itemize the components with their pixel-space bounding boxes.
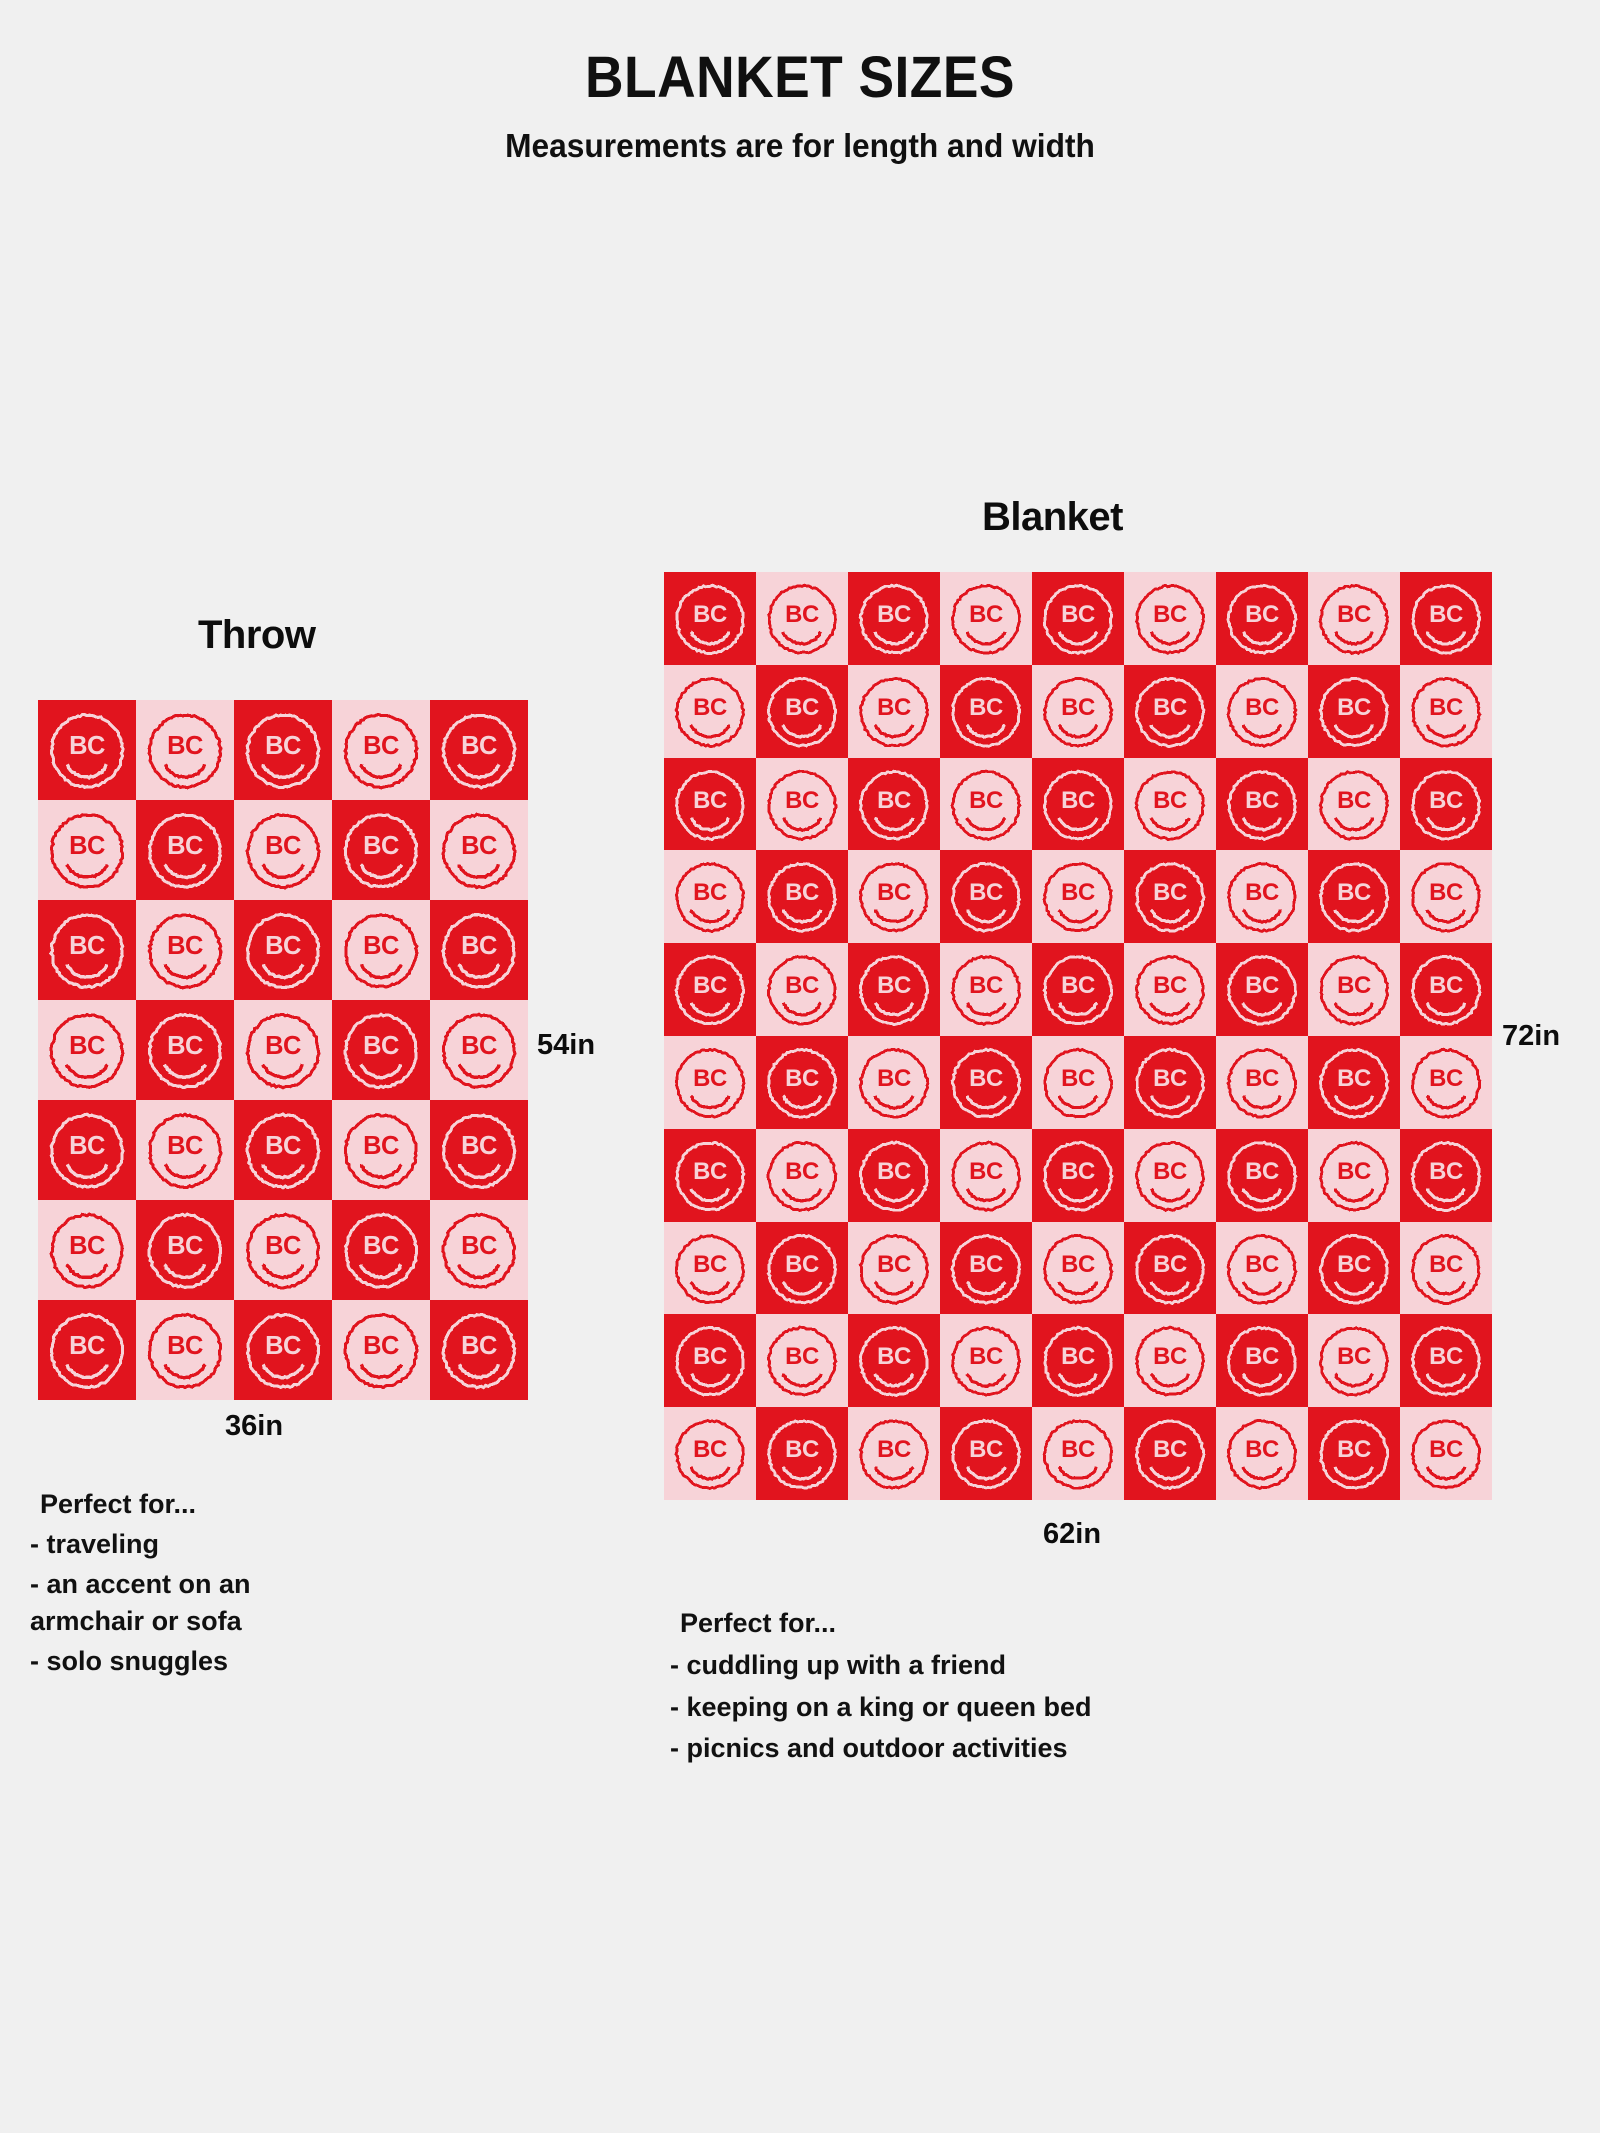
blanket-size-chart: BLANKET SIZES Measurements are for lengt…: [0, 0, 1600, 2133]
blanket-perfect-heading: Perfect for...: [680, 1605, 1310, 1643]
svg-text:BC: BC: [785, 1250, 819, 1277]
blanket-tile: BC: [1308, 1222, 1400, 1315]
blanket-tile: BC: [664, 665, 756, 758]
svg-text:BC: BC: [969, 601, 1003, 628]
svg-text:BC: BC: [461, 1232, 497, 1260]
svg-text:BC: BC: [1061, 972, 1095, 999]
svg-text:BC: BC: [693, 1250, 727, 1277]
blanket-tile: BC: [234, 1000, 332, 1100]
svg-text:BC: BC: [1061, 1250, 1095, 1277]
blanket-tile: BC: [38, 1300, 136, 1400]
svg-text:BC: BC: [1429, 694, 1463, 721]
blanket-tile: BC: [1216, 572, 1308, 665]
svg-text:BC: BC: [265, 1332, 301, 1360]
svg-text:BC: BC: [1429, 1065, 1463, 1092]
svg-text:BC: BC: [363, 1232, 399, 1260]
blanket-tile: BC: [332, 1200, 430, 1300]
svg-text:BC: BC: [1061, 601, 1095, 628]
blanket-tile: BC: [1032, 1314, 1124, 1407]
blanket-tile: BC: [1216, 1314, 1308, 1407]
blanket-tile: BC: [756, 943, 848, 1036]
blanket-tile: BC: [756, 1314, 848, 1407]
svg-text:BC: BC: [877, 1250, 911, 1277]
blanket-tile: BC: [756, 758, 848, 851]
svg-text:BC: BC: [363, 932, 399, 960]
blanket-tile: BC: [664, 572, 756, 665]
blanket-perfect-item: - keeping on a king or queen bed: [670, 1689, 1310, 1727]
svg-text:BC: BC: [693, 1065, 727, 1092]
blanket-tile: BC: [940, 1222, 1032, 1315]
svg-text:BC: BC: [69, 732, 105, 760]
throw-perfect-item: - traveling: [30, 1526, 360, 1564]
svg-text:BC: BC: [265, 832, 301, 860]
throw-heading: Throw: [198, 613, 315, 658]
throw-perfect-item: - solo snuggles: [30, 1643, 360, 1681]
blanket-tile: BC: [1032, 572, 1124, 665]
throw-width-label: 36in: [225, 1410, 283, 1443]
svg-text:BC: BC: [1153, 1065, 1187, 1092]
blanket-tile: BC: [136, 1200, 234, 1300]
svg-text:BC: BC: [693, 1436, 727, 1463]
svg-text:BC: BC: [1245, 972, 1279, 999]
svg-text:BC: BC: [693, 1343, 727, 1370]
svg-text:BC: BC: [693, 972, 727, 999]
svg-text:BC: BC: [1245, 786, 1279, 813]
blanket-tile: BC: [234, 800, 332, 900]
blanket-tile: BC: [1216, 1222, 1308, 1315]
svg-text:BC: BC: [1337, 972, 1371, 999]
svg-text:BC: BC: [1245, 879, 1279, 906]
svg-text:BC: BC: [1153, 972, 1187, 999]
blanket-tile: BC: [848, 943, 940, 1036]
blanket-tile: BC: [848, 1407, 940, 1500]
blanket-tile: BC: [430, 900, 528, 1000]
svg-text:BC: BC: [167, 932, 203, 960]
svg-text:BC: BC: [785, 786, 819, 813]
svg-text:BC: BC: [167, 1132, 203, 1160]
blanket-tile: BC: [1400, 758, 1492, 851]
svg-text:BC: BC: [1429, 1343, 1463, 1370]
blanket-tile: BC: [1124, 665, 1216, 758]
blanket-tile: BC: [664, 1314, 756, 1407]
blanket-tile: BC: [848, 1314, 940, 1407]
blanket-tile: BC: [1032, 943, 1124, 1036]
svg-text:BC: BC: [693, 879, 727, 906]
blanket-tile: BC: [332, 800, 430, 900]
svg-text:BC: BC: [785, 1158, 819, 1185]
blanket-tile: BC: [1308, 1407, 1400, 1500]
blanket-tile: BC: [332, 1100, 430, 1200]
svg-text:BC: BC: [1337, 1065, 1371, 1092]
blanket-tile: BC: [848, 1129, 940, 1222]
svg-text:BC: BC: [363, 1132, 399, 1160]
svg-text:BC: BC: [69, 932, 105, 960]
svg-text:BC: BC: [363, 832, 399, 860]
svg-text:BC: BC: [1153, 879, 1187, 906]
blanket-tile: BC: [38, 1000, 136, 1100]
svg-text:BC: BC: [969, 1158, 1003, 1185]
svg-text:BC: BC: [167, 1332, 203, 1360]
blanket-tile: BC: [848, 572, 940, 665]
svg-text:BC: BC: [265, 932, 301, 960]
svg-text:BC: BC: [1153, 1343, 1187, 1370]
blanket-tile: BC: [1124, 850, 1216, 943]
svg-text:BC: BC: [969, 786, 1003, 813]
blanket-tile: BC: [38, 900, 136, 1000]
blanket-tile: BC: [136, 900, 234, 1000]
svg-text:BC: BC: [461, 1332, 497, 1360]
svg-text:BC: BC: [1153, 1436, 1187, 1463]
svg-text:BC: BC: [69, 1032, 105, 1060]
blanket-tile: BC: [664, 1222, 756, 1315]
svg-text:BC: BC: [167, 1232, 203, 1260]
svg-text:BC: BC: [877, 972, 911, 999]
blanket-tile: BC: [234, 1200, 332, 1300]
svg-text:BC: BC: [69, 1232, 105, 1260]
svg-text:BC: BC: [167, 1032, 203, 1060]
svg-text:BC: BC: [1153, 694, 1187, 721]
blanket-tile: BC: [756, 850, 848, 943]
blanket-tile: BC: [1400, 572, 1492, 665]
svg-text:BC: BC: [693, 601, 727, 628]
svg-text:BC: BC: [1061, 879, 1095, 906]
svg-text:BC: BC: [1245, 694, 1279, 721]
svg-text:BC: BC: [1337, 879, 1371, 906]
svg-text:BC: BC: [877, 786, 911, 813]
svg-text:BC: BC: [969, 972, 1003, 999]
blanket-tile: BC: [1400, 943, 1492, 1036]
svg-text:BC: BC: [785, 601, 819, 628]
blanket-tile: BC: [1032, 665, 1124, 758]
svg-text:BC: BC: [1337, 601, 1371, 628]
blanket-tile: BC: [940, 758, 1032, 851]
blanket-perfect-item: - cuddling up with a friend: [670, 1647, 1310, 1685]
svg-text:BC: BC: [363, 1032, 399, 1060]
svg-text:BC: BC: [265, 1232, 301, 1260]
svg-text:BC: BC: [1153, 601, 1187, 628]
throw-perfect-for: Perfect for... - traveling - an accent o…: [30, 1486, 360, 1681]
blanket-tile: BC: [940, 572, 1032, 665]
page-subtitle: Measurements are for length and width: [32, 127, 1568, 165]
blanket-tile: BC: [1400, 1407, 1492, 1500]
blanket-tile: BC: [1400, 1314, 1492, 1407]
svg-text:BC: BC: [69, 832, 105, 860]
svg-text:BC: BC: [1429, 601, 1463, 628]
blanket-tile: BC: [1400, 1129, 1492, 1222]
blanket-tile: BC: [1308, 572, 1400, 665]
svg-text:BC: BC: [1245, 601, 1279, 628]
blanket-tile: BC: [848, 850, 940, 943]
svg-text:BC: BC: [877, 1065, 911, 1092]
blanket-tile: BC: [664, 850, 756, 943]
blanket-tile: BC: [234, 1300, 332, 1400]
blanket-tile: BC: [136, 1100, 234, 1200]
svg-text:BC: BC: [969, 1065, 1003, 1092]
svg-text:BC: BC: [1061, 694, 1095, 721]
svg-text:BC: BC: [1429, 1250, 1463, 1277]
blanket-tile: BC: [1216, 1036, 1308, 1129]
svg-text:BC: BC: [1153, 1250, 1187, 1277]
svg-text:BC: BC: [1245, 1436, 1279, 1463]
svg-text:BC: BC: [877, 879, 911, 906]
svg-text:BC: BC: [785, 1065, 819, 1092]
blanket-tile: BC: [1032, 758, 1124, 851]
svg-text:BC: BC: [1337, 786, 1371, 813]
blanket-tile: BC: [1400, 1222, 1492, 1315]
svg-text:BC: BC: [461, 1032, 497, 1060]
blanket-tile: BC: [1032, 1222, 1124, 1315]
blanket-tile: BC: [1216, 850, 1308, 943]
svg-text:BC: BC: [1337, 1158, 1371, 1185]
svg-text:BC: BC: [785, 879, 819, 906]
blanket-tile: BC: [848, 1036, 940, 1129]
svg-text:BC: BC: [877, 694, 911, 721]
blanket-tile: BC: [848, 1222, 940, 1315]
blanket-tile: BC: [1124, 1314, 1216, 1407]
blanket-tile: BC: [38, 1200, 136, 1300]
blanket-tile: BC: [1032, 1407, 1124, 1500]
blanket-tile: BC: [756, 1129, 848, 1222]
throw-blanket-swatch: BCBCBCBCBCBCBCBCBCBCBCBCBCBCBCBCBCBCBCBC…: [38, 700, 528, 1400]
blanket-tile: BC: [1124, 1036, 1216, 1129]
svg-text:BC: BC: [1061, 1343, 1095, 1370]
blanket-tile: BC: [1124, 572, 1216, 665]
blanket-tile: BC: [1216, 665, 1308, 758]
blanket-tile: BC: [664, 943, 756, 1036]
svg-text:BC: BC: [969, 694, 1003, 721]
blanket-tile: BC: [430, 1300, 528, 1400]
blanket-tile: BC: [940, 1314, 1032, 1407]
blanket-tile: BC: [136, 1300, 234, 1400]
blanket-tile: BC: [1400, 665, 1492, 758]
svg-text:BC: BC: [877, 1436, 911, 1463]
svg-text:BC: BC: [1245, 1250, 1279, 1277]
blanket-width-label: 62in: [1043, 1518, 1101, 1551]
svg-text:BC: BC: [1429, 879, 1463, 906]
svg-text:BC: BC: [1245, 1065, 1279, 1092]
svg-text:BC: BC: [265, 732, 301, 760]
svg-text:BC: BC: [1337, 1343, 1371, 1370]
blanket-tile: BC: [756, 1036, 848, 1129]
svg-text:BC: BC: [969, 1343, 1003, 1370]
blanket-tile: BC: [430, 800, 528, 900]
svg-text:BC: BC: [969, 879, 1003, 906]
blanket-tile: BC: [1032, 850, 1124, 943]
svg-text:BC: BC: [461, 832, 497, 860]
svg-text:BC: BC: [785, 972, 819, 999]
blanket-tile: BC: [940, 1036, 1032, 1129]
blanket-tile: BC: [756, 1407, 848, 1500]
blanket-tile: BC: [136, 800, 234, 900]
svg-text:BC: BC: [1061, 786, 1095, 813]
svg-text:BC: BC: [1245, 1343, 1279, 1370]
blanket-tile: BC: [1216, 943, 1308, 1036]
blanket-tile: BC: [430, 1000, 528, 1100]
svg-text:BC: BC: [1337, 1250, 1371, 1277]
blanket-tile: BC: [664, 1407, 756, 1500]
svg-text:BC: BC: [693, 1158, 727, 1185]
svg-text:BC: BC: [461, 932, 497, 960]
blanket-tile: BC: [1032, 1036, 1124, 1129]
blanket-tile: BC: [1308, 758, 1400, 851]
blanket-tile: BC: [664, 1036, 756, 1129]
svg-text:BC: BC: [693, 786, 727, 813]
svg-text:BC: BC: [1429, 1436, 1463, 1463]
svg-text:BC: BC: [877, 1158, 911, 1185]
svg-text:BC: BC: [363, 1332, 399, 1360]
throw-length-label: 54in: [537, 1029, 595, 1062]
blanket-tile: BC: [1308, 943, 1400, 1036]
svg-text:BC: BC: [693, 694, 727, 721]
svg-text:BC: BC: [69, 1332, 105, 1360]
svg-text:BC: BC: [1429, 972, 1463, 999]
blanket-tile: BC: [664, 1129, 756, 1222]
svg-text:BC: BC: [461, 732, 497, 760]
blanket-tile: BC: [1216, 1129, 1308, 1222]
blanket-tile: BC: [1124, 1129, 1216, 1222]
svg-text:BC: BC: [1153, 786, 1187, 813]
blanket-tile: BC: [1308, 850, 1400, 943]
blanket-tile: BC: [136, 1000, 234, 1100]
svg-text:BC: BC: [785, 1436, 819, 1463]
page-title: BLANKET SIZES: [64, 48, 1536, 109]
blanket-tile: BC: [1308, 665, 1400, 758]
svg-text:BC: BC: [1061, 1436, 1095, 1463]
svg-text:BC: BC: [1429, 1158, 1463, 1185]
blanket-tile: BC: [940, 943, 1032, 1036]
svg-text:BC: BC: [167, 732, 203, 760]
svg-text:BC: BC: [265, 1132, 301, 1160]
blanket-tile: BC: [430, 700, 528, 800]
blanket-tile: BC: [1124, 1222, 1216, 1315]
blanket-tile: BC: [1124, 1407, 1216, 1500]
blanket-perfect-item: - picnics and outdoor activities: [670, 1730, 1310, 1768]
svg-text:BC: BC: [1245, 1158, 1279, 1185]
blanket-tile: BC: [234, 1100, 332, 1200]
blanket-tile: BC: [940, 1407, 1032, 1500]
svg-text:BC: BC: [167, 832, 203, 860]
blanket-perfect-for: Perfect for... - cuddling up with a frie…: [670, 1605, 1310, 1768]
blanket-tile: BC: [1124, 758, 1216, 851]
blanket-tile: BC: [234, 700, 332, 800]
blanket-tile: BC: [1124, 943, 1216, 1036]
svg-text:BC: BC: [363, 732, 399, 760]
throw-perfect-heading: Perfect for...: [40, 1486, 360, 1524]
throw-perfect-item: - an accent on an armchair or sofa: [30, 1566, 360, 1642]
blanket-tile: BC: [1308, 1129, 1400, 1222]
blanket-tile: BC: [38, 1100, 136, 1200]
svg-text:BC: BC: [265, 1032, 301, 1060]
blanket-tile: BC: [848, 758, 940, 851]
blanket-tile: BC: [430, 1100, 528, 1200]
blanket-tile: BC: [1032, 1129, 1124, 1222]
blanket-tile: BC: [756, 1222, 848, 1315]
blanket-tile: BC: [332, 900, 430, 1000]
blanket-heading: Blanket: [982, 495, 1123, 540]
blanket-tile: BC: [332, 1300, 430, 1400]
blanket-length-label: 72in: [1502, 1020, 1560, 1053]
svg-text:BC: BC: [1061, 1065, 1095, 1092]
blanket-tile: BC: [332, 700, 430, 800]
blanket-tile: BC: [332, 1000, 430, 1100]
blanket-tile: BC: [1216, 758, 1308, 851]
blanket-tile: BC: [38, 700, 136, 800]
svg-text:BC: BC: [877, 601, 911, 628]
blanket-tile: BC: [940, 665, 1032, 758]
header: BLANKET SIZES Measurements are for lengt…: [0, 48, 1600, 165]
svg-text:BC: BC: [1337, 1436, 1371, 1463]
blanket-tile: BC: [664, 758, 756, 851]
blanket-tile: BC: [136, 700, 234, 800]
svg-text:BC: BC: [877, 1343, 911, 1370]
blanket-blanket-swatch: BCBCBCBCBCBCBCBCBCBCBCBCBCBCBCBCBCBCBCBC…: [664, 572, 1492, 1500]
blanket-tile: BC: [756, 572, 848, 665]
blanket-tile: BC: [1400, 1036, 1492, 1129]
svg-text:BC: BC: [1153, 1158, 1187, 1185]
blanket-tile: BC: [940, 1129, 1032, 1222]
svg-text:BC: BC: [69, 1132, 105, 1160]
svg-text:BC: BC: [1061, 1158, 1095, 1185]
blanket-tile: BC: [234, 900, 332, 1000]
blanket-tile: BC: [756, 665, 848, 758]
blanket-tile: BC: [430, 1200, 528, 1300]
blanket-tile: BC: [1216, 1407, 1308, 1500]
svg-text:BC: BC: [785, 694, 819, 721]
blanket-tile: BC: [848, 665, 940, 758]
svg-text:BC: BC: [1337, 694, 1371, 721]
blanket-tile: BC: [1308, 1314, 1400, 1407]
svg-text:BC: BC: [1429, 786, 1463, 813]
blanket-tile: BC: [38, 800, 136, 900]
svg-text:BC: BC: [785, 1343, 819, 1370]
svg-text:BC: BC: [969, 1436, 1003, 1463]
svg-text:BC: BC: [461, 1132, 497, 1160]
blanket-tile: BC: [940, 850, 1032, 943]
blanket-tile: BC: [1308, 1036, 1400, 1129]
svg-text:BC: BC: [969, 1250, 1003, 1277]
blanket-tile: BC: [1400, 850, 1492, 943]
